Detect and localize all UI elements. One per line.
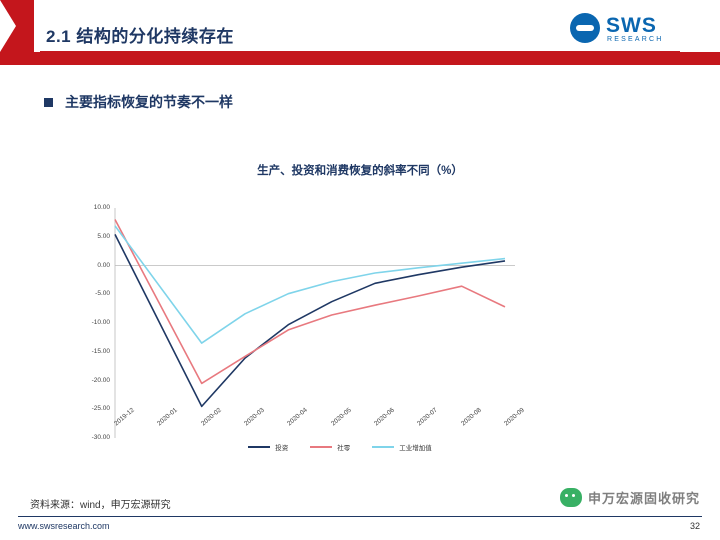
y-tick-label: 0.00 <box>97 262 110 269</box>
y-tick-label: 5.00 <box>97 233 110 240</box>
bullet-row: 主要指标恢复的节奏不一样 <box>44 92 233 112</box>
header-red-bar <box>0 52 720 65</box>
legend-item: 工业增加值 <box>372 442 432 452</box>
y-tick-label: -20.00 <box>92 377 110 384</box>
wechat-label: 申万宏源固收研究 <box>588 488 700 507</box>
chart-title: 生产、投资和消费恢复的斜率不同（%） <box>60 162 660 178</box>
legend-label: 投资 <box>275 442 288 452</box>
y-tick-label: -10.00 <box>92 319 110 326</box>
legend-item: 社零 <box>310 442 350 452</box>
header-chevron-icon <box>0 0 16 52</box>
bullet-text: 主要指标恢复的节奏不一样 <box>65 92 233 112</box>
y-tick-label: 10.00 <box>94 204 110 211</box>
footer-website[interactable]: www.swsresearch.com <box>18 521 110 531</box>
y-tick-label: -5.00 <box>95 290 110 297</box>
chart-line-工业增加值 <box>115 226 505 343</box>
wechat-icon <box>560 488 582 507</box>
sws-logo: SWS RESEARCH <box>570 12 702 48</box>
page-title: 2.1 结构的分化持续存在 <box>46 22 234 47</box>
y-tick-label: -25.00 <box>92 405 110 412</box>
legend-color-swatch <box>248 446 270 448</box>
chart-plot-area <box>115 208 505 438</box>
slide-header: 2.1 结构的分化持续存在 SWS RESEARCH <box>0 0 720 66</box>
chart-line-社零 <box>115 220 505 384</box>
logo-circle-icon <box>570 13 600 43</box>
chart-legend: 投资社零工业增加值 <box>170 442 510 452</box>
wechat-mark: 申万宏源固收研究 <box>530 482 700 512</box>
chart-container: 生产、投资和消费恢复的斜率不同（%） 10.005.000.00-5.00-10… <box>60 150 660 470</box>
source-note: 资料来源：wind，申万宏源研究 <box>30 496 171 511</box>
legend-label: 社零 <box>337 442 350 452</box>
legend-color-swatch <box>372 446 394 448</box>
legend-label: 工业增加值 <box>399 442 432 452</box>
page-number: 32 <box>690 521 700 531</box>
logo-subtitle: RESEARCH <box>607 36 664 43</box>
bullet-square-icon <box>44 98 53 107</box>
legend-item: 投资 <box>248 442 288 452</box>
legend-color-swatch <box>310 446 332 448</box>
y-axis-labels: 10.005.000.00-5.00-10.00-15.00-20.00-25.… <box>60 208 112 438</box>
header-underline <box>40 51 680 53</box>
y-tick-label: -15.00 <box>92 348 110 355</box>
footer-divider <box>18 516 702 517</box>
y-tick-label: -30.00 <box>92 434 110 441</box>
logo-wordmark: SWS <box>606 14 657 38</box>
chart-line-投资 <box>115 234 505 406</box>
